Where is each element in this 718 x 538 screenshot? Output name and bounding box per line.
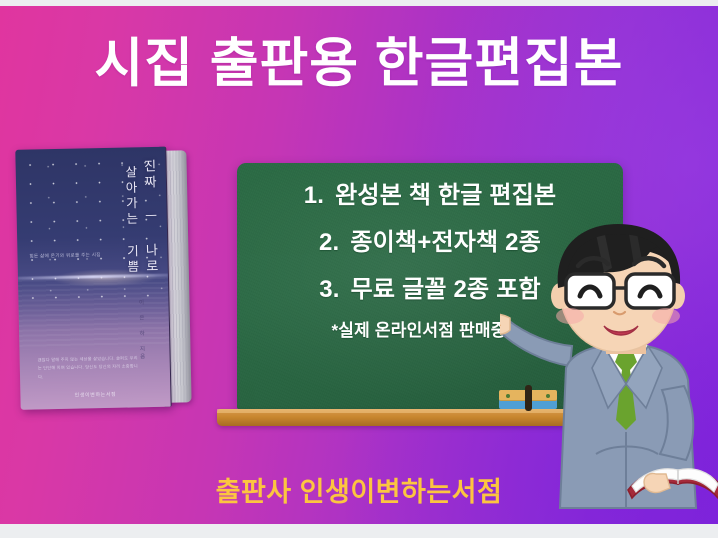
cover-water-reflection <box>18 277 169 350</box>
top-edge-bar <box>0 0 718 6</box>
item-number: 3. <box>319 276 339 304</box>
teacher-illustration <box>500 222 718 522</box>
book-author: 이 은 하 지음 <box>136 299 145 361</box>
item-number: 2. <box>319 229 339 257</box>
item-text: 완성본 책 한글 편집본 <box>335 175 556 210</box>
page-title: 시집 출판용 한글편집본 <box>0 36 718 92</box>
book-title-line2: 살아가는 기쁨 <box>123 165 138 275</box>
teacher-left-arm <box>500 320 572 366</box>
blackboard-item: 1. 완성본 책 한글 편집본 <box>237 175 623 210</box>
teacher-hand-pointing <box>500 314 510 334</box>
book-publisher: 인생이변하는서점 <box>20 390 170 400</box>
teacher-hand-holding-book <box>644 473 670 492</box>
book-mockup: 진짜 ㅡ 나로 살아가는 기쁨 힘든 삶에 온기와 위로를 주는 시집 이 은 … <box>15 146 195 412</box>
book-title-line1: 진짜 ㅡ 나로 <box>142 159 157 275</box>
book-cover: 진짜 ㅡ 나로 살아가는 기쁨 힘든 삶에 온기와 위로를 주는 시집 이 은 … <box>15 147 170 410</box>
teacher-blush-left <box>556 308 584 324</box>
book-cover-title: 진짜 ㅡ 나로 살아가는 기쁨 <box>123 159 158 276</box>
book-blurb: 괜찮다 말해 주지 않는 세상을 살았습니다. 슬퍼도 우리는 단단해 지며 있… <box>38 354 143 381</box>
teacher-blush-right <box>652 308 680 324</box>
item-number: 1. <box>304 182 324 210</box>
poster-canvas: 시집 출판용 한글편집본 진짜 ㅡ 나로 살아가는 기쁨 힘든 삶에 온기와 위… <box>0 0 718 538</box>
bottom-edge-bar <box>0 524 718 538</box>
